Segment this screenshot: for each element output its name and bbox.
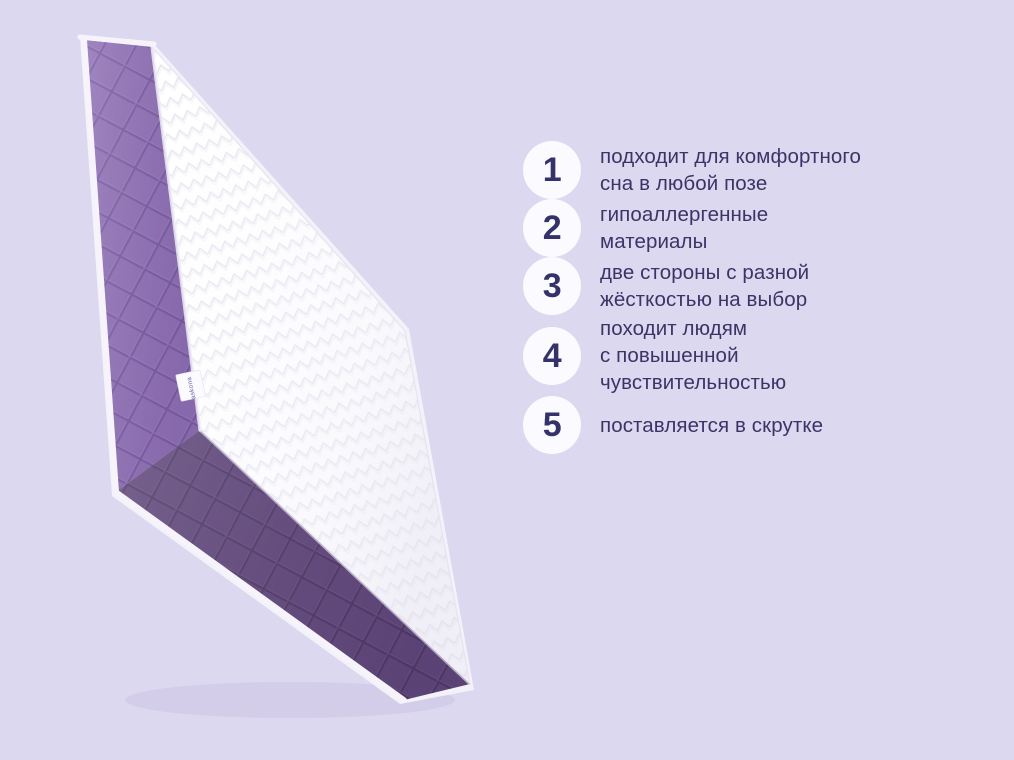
feature-text-2: гипоаллергенные материалы xyxy=(600,201,768,255)
feature-item-4: 4 походит людям с повышенной чувствитель… xyxy=(523,315,983,396)
feature-line: чувствительностью xyxy=(600,369,786,396)
feature-number-badge-1: 1 xyxy=(523,141,581,199)
brand-tag-icon: askona xyxy=(176,370,206,402)
feature-number-badge-5: 5 xyxy=(523,396,581,454)
feature-number-badge-3: 3 xyxy=(523,257,581,315)
feature-list: 1 подходит для комфортного сна в любой п… xyxy=(523,126,983,454)
mattress-illustration: askona xyxy=(0,0,520,760)
feature-text-3: две стороны с разной жёсткостью на выбор xyxy=(600,259,809,313)
feature-item-3: 3 две стороны с разной жёсткостью на выб… xyxy=(523,257,983,315)
feature-line: походит людям xyxy=(600,315,786,342)
product-infographic: askona 1 подходит для комфортного сна в … xyxy=(0,0,1014,760)
feature-line: с повышенной xyxy=(600,342,786,369)
feature-line: две стороны с разной xyxy=(600,259,809,286)
feature-number-badge-4: 4 xyxy=(523,327,581,385)
feature-number-badge-2: 2 xyxy=(523,199,581,257)
feature-line: сна в любой позе xyxy=(600,170,861,197)
feature-line: подходит для комфортного xyxy=(600,143,861,170)
feature-line: жёсткостью на выбор xyxy=(600,286,809,313)
feature-line: поставляется в скрутке xyxy=(600,412,823,439)
feature-text-1: подходит для комфортного сна в любой поз… xyxy=(600,143,861,197)
feature-item-1: 1 подходит для комфортного сна в любой п… xyxy=(523,141,983,199)
feature-text-5: поставляется в скрутке xyxy=(600,412,823,439)
feature-item-2: 2 гипоаллергенные материалы xyxy=(523,199,983,257)
feature-item-5: 5 поставляется в скрутке xyxy=(523,396,983,454)
feature-line: материалы xyxy=(600,228,768,255)
feature-line: гипоаллергенные xyxy=(600,201,768,228)
feature-text-4: походит людям с повышенной чувствительно… xyxy=(600,315,786,396)
